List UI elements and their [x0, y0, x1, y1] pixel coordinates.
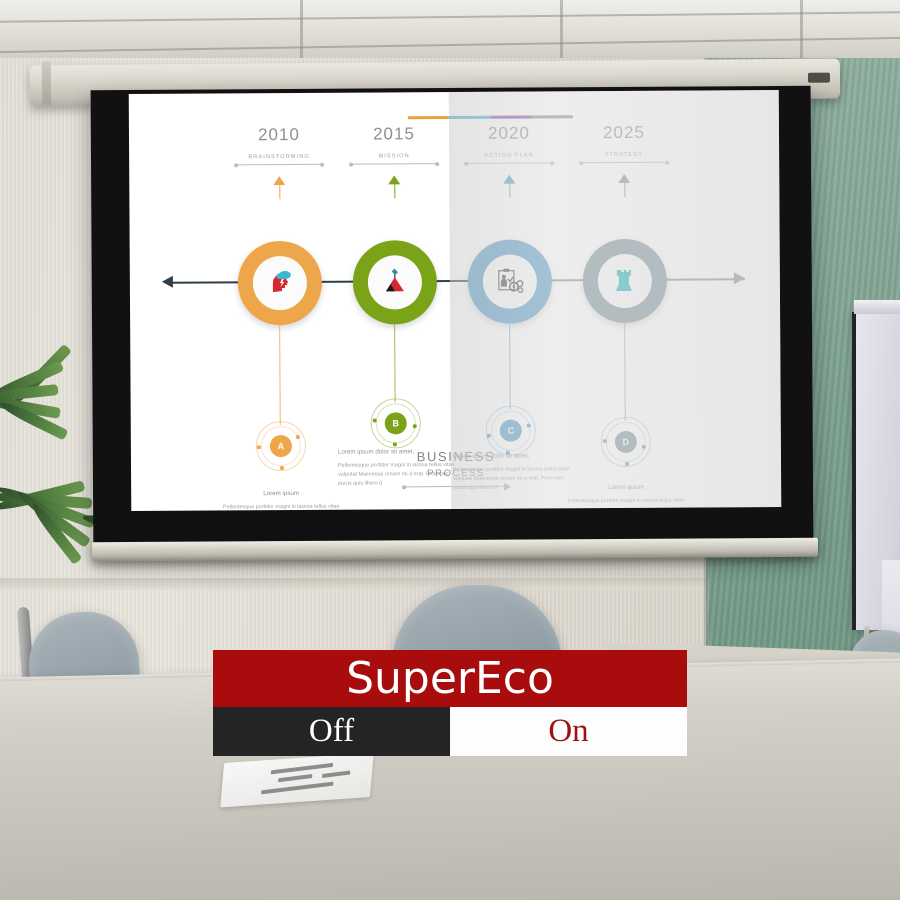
- step-stem: [394, 184, 395, 198]
- footer-title-line2: PROCESS: [381, 468, 531, 480]
- step-icon-wrap: [483, 254, 537, 308]
- step-icon-wrap: [253, 256, 307, 310]
- badge-letter: D: [615, 431, 637, 453]
- step-icon-wrap: [598, 254, 652, 308]
- supereco-off-label: Off: [309, 713, 354, 750]
- footer-title-line1: BUSINESS: [381, 449, 531, 465]
- step-circle-2010[interactable]: [238, 241, 323, 326]
- step-body-2025: Lorem ipsum Pellentesque porttitor magni…: [567, 483, 685, 511]
- roller-end-cap: [808, 73, 830, 83]
- step-circle-2015[interactable]: [353, 240, 438, 325]
- step-icon-wrap: [368, 255, 422, 309]
- body-heading: Lorem ipsum: [567, 483, 685, 494]
- badge-letter: B: [385, 412, 407, 434]
- step-underline: [351, 163, 437, 165]
- ceiling-beam: [300, 0, 303, 62]
- step-badge-D[interactable]: D: [601, 417, 651, 467]
- ceiling-seam: [0, 11, 900, 22]
- body-heading: Lorem ipsum: [222, 489, 340, 500]
- step-circle-2025[interactable]: [583, 239, 668, 324]
- step-badge-A[interactable]: A: [256, 421, 306, 471]
- accent-color-bar: [408, 115, 573, 119]
- connector-line-2015: [394, 324, 395, 402]
- step-underline: [236, 164, 322, 166]
- step-badge-B[interactable]: B: [371, 398, 421, 448]
- step-label: STRATEGY: [544, 151, 704, 158]
- ceiling-seam: [0, 37, 900, 53]
- ceiling: [0, 0, 900, 62]
- step-stem: [279, 185, 280, 199]
- chess-rook-icon: [612, 267, 638, 295]
- step-circle-2020[interactable]: [468, 239, 553, 324]
- badge-letter: C: [500, 420, 522, 442]
- head-brainstorm-icon: [265, 268, 295, 298]
- step-marker-triangle-icon: [503, 175, 515, 184]
- supereco-title-bar: SuperEco: [213, 650, 687, 707]
- connector-line-2010: [279, 325, 281, 425]
- ceiling-beam: [560, 0, 563, 62]
- supereco-banner: SuperEco Off On: [213, 650, 687, 756]
- step-body-2010: Lorem ipsum Pellentesque porttitor magni…: [222, 489, 340, 511]
- timeline-arrow-right-icon: [734, 272, 745, 284]
- step-underline: [581, 162, 667, 164]
- badge-letter: A: [270, 435, 292, 457]
- step-column-2025[interactable]: 2025 STRATEGY: [544, 122, 704, 197]
- supereco-on-label: On: [548, 713, 588, 750]
- roller-bracket: [42, 61, 51, 105]
- ceiling-beam: [800, 0, 803, 62]
- flipchart-top-rail: [854, 300, 900, 314]
- connector-line-2025: [624, 323, 626, 421]
- connector-line-2020: [509, 324, 511, 410]
- mountain-flag-icon: [381, 268, 409, 296]
- supereco-title: SuperEco: [346, 653, 554, 704]
- step-year: 2025: [544, 122, 704, 143]
- supereco-on-button[interactable]: On: [450, 707, 687, 756]
- clipboard-gears-icon: [495, 268, 525, 296]
- supereco-off-button[interactable]: Off: [213, 707, 450, 756]
- step-stem: [624, 183, 625, 197]
- step-marker-triangle-icon: [618, 174, 630, 183]
- slide-footer-title: BUSINESS PROCESS: [381, 449, 531, 488]
- conference-room-scene: 2010 BRAINSTORMING A: [0, 0, 900, 900]
- step-stem: [509, 184, 510, 198]
- step-marker-triangle-icon: [273, 176, 285, 185]
- projected-infographic-slide: 2010 BRAINSTORMING A: [129, 90, 782, 511]
- step-underline: [466, 162, 552, 164]
- step-marker-triangle-icon: [388, 175, 400, 184]
